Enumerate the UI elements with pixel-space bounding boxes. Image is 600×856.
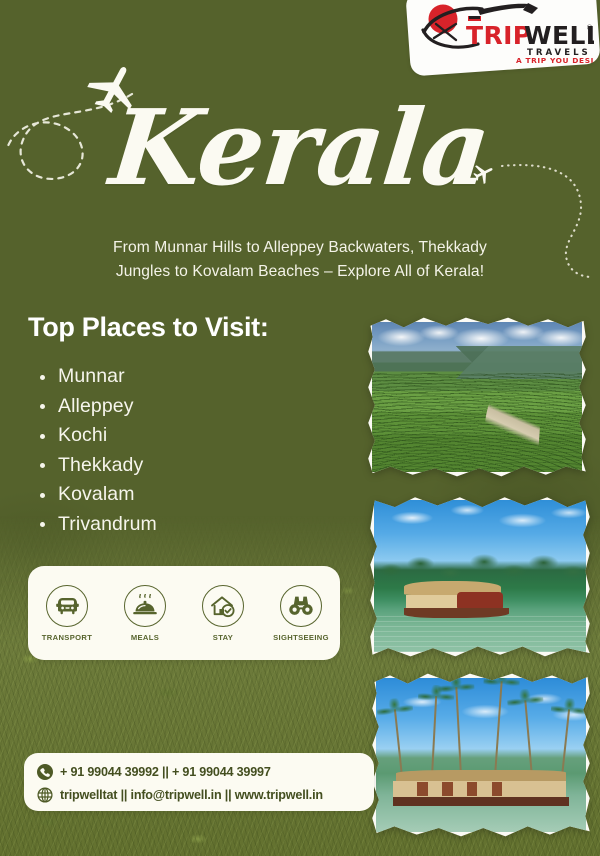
top-places-heading: Top Places to Visit: bbox=[28, 312, 269, 343]
amenity-label: TRANSPORT bbox=[30, 633, 104, 642]
svg-text:WELL: WELL bbox=[524, 21, 594, 50]
phone-icon bbox=[37, 764, 53, 780]
photo-kovalam-palms: Palm trees and houseboat bbox=[370, 672, 592, 838]
amenity-transport: TRANSPORT bbox=[30, 585, 104, 642]
house-check-icon bbox=[202, 585, 244, 627]
amenity-sightseeing: SIGHTSEEING bbox=[264, 585, 338, 642]
svg-text:A TRIP YOU DESIRE...: A TRIP YOU DESIRE... bbox=[516, 56, 594, 64]
list-item: Trivandrum bbox=[36, 510, 157, 540]
list-item: Munnar bbox=[36, 362, 157, 392]
page-title: Kerala bbox=[0, 96, 600, 200]
van-icon bbox=[46, 585, 88, 627]
poster-canvas: TRIP WELL ® TRAVELS A TRIP YOU DESIRE...… bbox=[0, 0, 600, 856]
contact-card: + 91 99044 39992 || + 91 99044 39997 tri… bbox=[24, 753, 374, 811]
hero-subtitle-line-2: Jungles to Kovalam Beaches – Explore All… bbox=[54, 260, 546, 284]
trip-well-logo: TRIP WELL ® TRAVELS A TRIP YOU DESIRE... bbox=[416, 2, 594, 64]
contact-phone-numbers: + 91 99044 39992 || + 91 99044 39997 bbox=[60, 765, 271, 779]
svg-text:TRIP: TRIP bbox=[466, 21, 532, 50]
photo-munnar-tea-hills: Munnar tea plantation hills bbox=[366, 316, 588, 478]
globe-icon bbox=[37, 787, 53, 803]
contact-phone-row[interactable]: + 91 99044 39992 || + 91 99044 39997 bbox=[37, 762, 374, 782]
amenity-label: STAY bbox=[186, 633, 260, 642]
list-item: Kovalam bbox=[36, 480, 157, 510]
amenities-card: TRANSPORT MEALS bbox=[28, 566, 340, 660]
hero-subtitle: From Munnar Hills to Alleppey Backwaters… bbox=[54, 236, 546, 283]
contact-web-row[interactable]: tripwelltat || info@tripwell.in || www.t… bbox=[37, 785, 374, 805]
list-item: Alleppey bbox=[36, 392, 157, 422]
list-item: Thekkady bbox=[36, 451, 157, 481]
contact-web-details: tripwelltat || info@tripwell.in || www.t… bbox=[60, 788, 323, 802]
amenity-label: SIGHTSEEING bbox=[264, 633, 338, 642]
hero-subtitle-line-1: From Munnar Hills to Alleppey Backwaters… bbox=[54, 236, 546, 260]
binoculars-icon bbox=[280, 585, 322, 627]
amenity-stay: STAY bbox=[186, 585, 260, 642]
top-places-list: Munnar Alleppey Kochi Thekkady Kovalam T… bbox=[36, 362, 157, 539]
svg-text:®: ® bbox=[586, 24, 593, 32]
amenity-label: MEALS bbox=[108, 633, 182, 642]
food-dome-icon bbox=[124, 585, 166, 627]
list-item: Kochi bbox=[36, 421, 157, 451]
photo-alleppey-houseboat: Alleppey backwaters houseboat bbox=[368, 494, 592, 658]
brand-logo-badge: TRIP WELL ® TRAVELS A TRIP YOU DESIRE... bbox=[405, 0, 600, 77]
amenity-meals: MEALS bbox=[108, 585, 182, 642]
